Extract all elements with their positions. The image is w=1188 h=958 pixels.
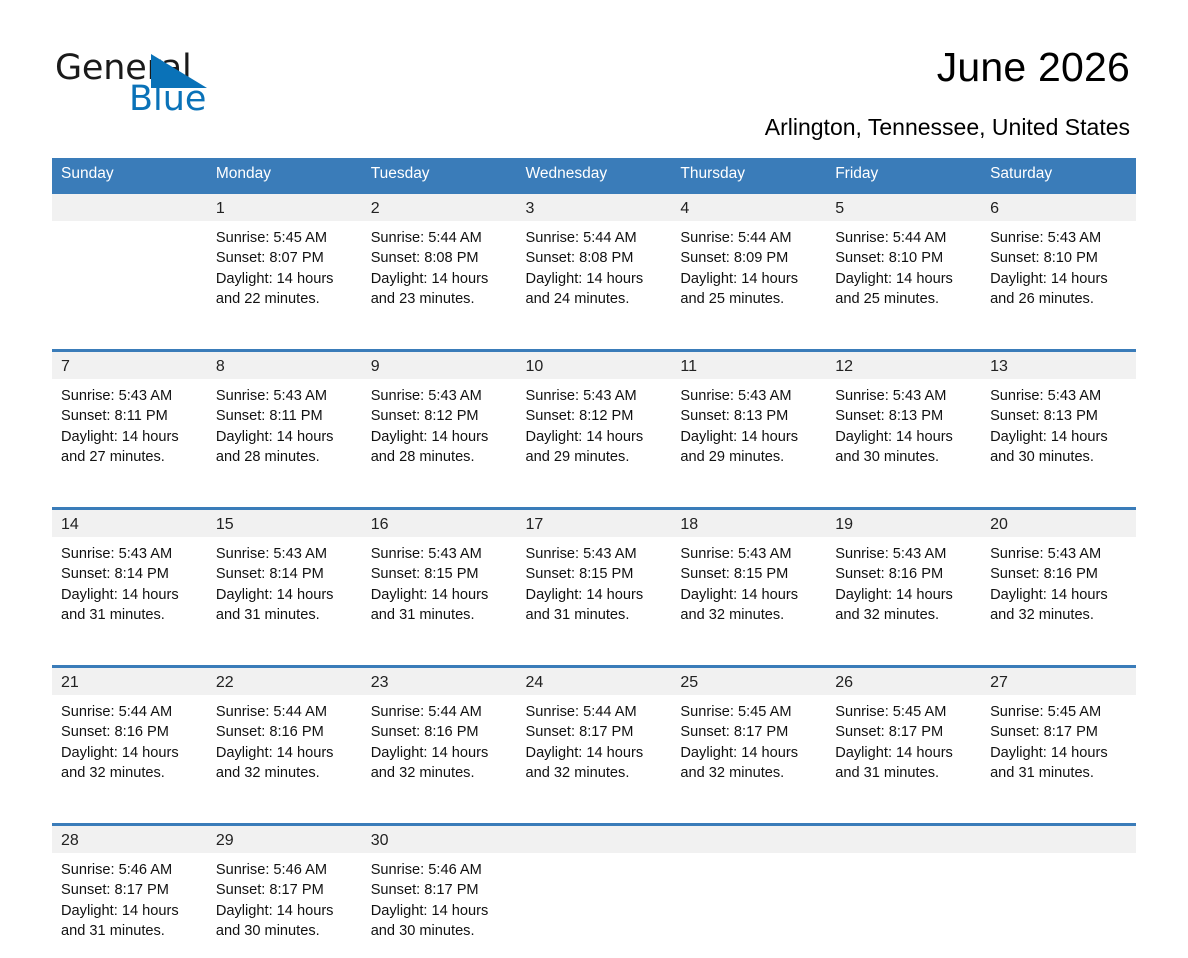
day-number: 14 xyxy=(52,510,207,537)
sunset-text: Sunset: 8:16 PM xyxy=(835,564,971,584)
calendar-day-cell[interactable]: 17Sunrise: 5:43 AMSunset: 8:15 PMDayligh… xyxy=(517,509,672,643)
day-details: Sunrise: 5:43 AMSunset: 8:13 PMDaylight:… xyxy=(981,379,1136,467)
sunset-text: Sunset: 8:09 PM xyxy=(680,248,816,268)
calendar-day-cell[interactable]: 2Sunrise: 5:44 AMSunset: 8:08 PMDaylight… xyxy=(362,193,517,327)
weekday-header-sunday: Sunday xyxy=(52,158,207,193)
calendar-day-cell[interactable]: 10Sunrise: 5:43 AMSunset: 8:12 PMDayligh… xyxy=(517,351,672,485)
sunrise-text: Sunrise: 5:44 AM xyxy=(216,702,352,722)
sunrise-text: Sunrise: 5:43 AM xyxy=(990,544,1126,564)
day-details: Sunrise: 5:46 AMSunset: 8:17 PMDaylight:… xyxy=(207,853,362,941)
day-number: 7 xyxy=(52,352,207,379)
week-gap-row xyxy=(52,484,1136,509)
day-details: Sunrise: 5:45 AMSunset: 8:17 PMDaylight:… xyxy=(981,695,1136,783)
day-details: Sunrise: 5:44 AMSunset: 8:08 PMDaylight:… xyxy=(362,221,517,309)
calendar-week-row: 7Sunrise: 5:43 AMSunset: 8:11 PMDaylight… xyxy=(52,351,1136,485)
day-cell-inner: 24Sunrise: 5:44 AMSunset: 8:17 PMDayligh… xyxy=(517,668,672,800)
sunrise-text: Sunrise: 5:43 AM xyxy=(680,386,816,406)
day-cell-inner: 20Sunrise: 5:43 AMSunset: 8:16 PMDayligh… xyxy=(981,510,1136,642)
daylight-text-line1: Daylight: 14 hours xyxy=(835,269,971,289)
calendar-body: 1Sunrise: 5:45 AMSunset: 8:07 PMDaylight… xyxy=(52,193,1136,958)
day-details: Sunrise: 5:46 AMSunset: 8:17 PMDaylight:… xyxy=(362,853,517,941)
day-number: 9 xyxy=(362,352,517,379)
daylight-text-line2: and 22 minutes. xyxy=(216,289,352,309)
daylight-text-line2: and 30 minutes. xyxy=(990,447,1126,467)
day-cell-inner: 15Sunrise: 5:43 AMSunset: 8:14 PMDayligh… xyxy=(207,510,362,642)
day-number: 10 xyxy=(517,352,672,379)
day-number: 1 xyxy=(207,194,362,221)
daylight-text-line1: Daylight: 14 hours xyxy=(526,585,662,605)
day-cell-inner: 17Sunrise: 5:43 AMSunset: 8:15 PMDayligh… xyxy=(517,510,672,642)
daylight-text-line1: Daylight: 14 hours xyxy=(990,427,1126,447)
day-number: 18 xyxy=(671,510,826,537)
day-cell-inner: 25Sunrise: 5:45 AMSunset: 8:17 PMDayligh… xyxy=(671,668,826,800)
daylight-text-line2: and 29 minutes. xyxy=(680,447,816,467)
day-number: 3 xyxy=(517,194,672,221)
sunset-text: Sunset: 8:13 PM xyxy=(990,406,1126,426)
sunset-text: Sunset: 8:15 PM xyxy=(371,564,507,584)
daylight-text-line2: and 31 minutes. xyxy=(61,605,197,625)
weekday-header-wednesday: Wednesday xyxy=(517,158,672,193)
calendar-day-cell[interactable]: 6Sunrise: 5:43 AMSunset: 8:10 PMDaylight… xyxy=(981,193,1136,327)
day-number: 21 xyxy=(52,668,207,695)
sunset-text: Sunset: 8:15 PM xyxy=(680,564,816,584)
sunset-text: Sunset: 8:11 PM xyxy=(216,406,352,426)
day-number: 25 xyxy=(671,668,826,695)
calendar-day-cell[interactable]: 11Sunrise: 5:43 AMSunset: 8:13 PMDayligh… xyxy=(671,351,826,485)
calendar-day-cell[interactable]: 29Sunrise: 5:46 AMSunset: 8:17 PMDayligh… xyxy=(207,825,362,958)
calendar-day-cell[interactable]: 5Sunrise: 5:44 AMSunset: 8:10 PMDaylight… xyxy=(826,193,981,327)
day-number xyxy=(52,194,207,221)
calendar-week-row: 28Sunrise: 5:46 AMSunset: 8:17 PMDayligh… xyxy=(52,825,1136,958)
calendar-day-cell[interactable]: 18Sunrise: 5:43 AMSunset: 8:15 PMDayligh… xyxy=(671,509,826,643)
day-cell-inner: 6Sunrise: 5:43 AMSunset: 8:10 PMDaylight… xyxy=(981,194,1136,326)
day-cell-inner: 7Sunrise: 5:43 AMSunset: 8:11 PMDaylight… xyxy=(52,352,207,484)
calendar-header-row: Sunday Monday Tuesday Wednesday Thursday… xyxy=(52,158,1136,193)
day-number: 28 xyxy=(52,826,207,853)
week-gap-cell xyxy=(52,326,1136,351)
day-details: Sunrise: 5:46 AMSunset: 8:17 PMDaylight:… xyxy=(52,853,207,941)
sunrise-text: Sunrise: 5:43 AM xyxy=(990,386,1126,406)
logo-word-blue: Blue xyxy=(129,79,206,119)
daylight-text-line1: Daylight: 14 hours xyxy=(680,585,816,605)
daylight-text-line1: Daylight: 14 hours xyxy=(835,427,971,447)
calendar-day-cell[interactable]: 16Sunrise: 5:43 AMSunset: 8:15 PMDayligh… xyxy=(362,509,517,643)
daylight-text-line2: and 25 minutes. xyxy=(835,289,971,309)
calendar-day-cell[interactable]: 3Sunrise: 5:44 AMSunset: 8:08 PMDaylight… xyxy=(517,193,672,327)
daylight-text-line2: and 32 minutes. xyxy=(371,763,507,783)
weekday-header-saturday: Saturday xyxy=(981,158,1136,193)
daylight-text-line1: Daylight: 14 hours xyxy=(216,269,352,289)
weekday-header-thursday: Thursday xyxy=(671,158,826,193)
sunset-text: Sunset: 8:13 PM xyxy=(835,406,971,426)
calendar-day-cell-empty xyxy=(517,825,672,958)
sunrise-text: Sunrise: 5:45 AM xyxy=(216,228,352,248)
daylight-text-line2: and 26 minutes. xyxy=(990,289,1126,309)
daylight-text-line2: and 30 minutes. xyxy=(216,921,352,941)
day-number xyxy=(981,826,1136,853)
calendar-day-cell[interactable]: 13Sunrise: 5:43 AMSunset: 8:13 PMDayligh… xyxy=(981,351,1136,485)
daylight-text-line2: and 28 minutes. xyxy=(216,447,352,467)
day-details: Sunrise: 5:43 AMSunset: 8:16 PMDaylight:… xyxy=(826,537,981,625)
day-cell-inner: 5Sunrise: 5:44 AMSunset: 8:10 PMDaylight… xyxy=(826,194,981,326)
day-cell-inner: 18Sunrise: 5:43 AMSunset: 8:15 PMDayligh… xyxy=(671,510,826,642)
week-gap-row xyxy=(52,642,1136,667)
daylight-text-line1: Daylight: 14 hours xyxy=(680,427,816,447)
daylight-text-line1: Daylight: 14 hours xyxy=(835,585,971,605)
day-details: Sunrise: 5:43 AMSunset: 8:12 PMDaylight:… xyxy=(362,379,517,467)
day-number: 5 xyxy=(826,194,981,221)
sunrise-text: Sunrise: 5:43 AM xyxy=(216,544,352,564)
calendar-week-row: 1Sunrise: 5:45 AMSunset: 8:07 PMDaylight… xyxy=(52,193,1136,327)
sunset-text: Sunset: 8:10 PM xyxy=(990,248,1126,268)
calendar-day-cell[interactable]: 19Sunrise: 5:43 AMSunset: 8:16 PMDayligh… xyxy=(826,509,981,643)
day-cell-inner: 27Sunrise: 5:45 AMSunset: 8:17 PMDayligh… xyxy=(981,668,1136,800)
daylight-text-line2: and 30 minutes. xyxy=(371,921,507,941)
sunrise-text: Sunrise: 5:46 AM xyxy=(216,860,352,880)
calendar-day-cell[interactable]: 22Sunrise: 5:44 AMSunset: 8:16 PMDayligh… xyxy=(207,667,362,801)
day-details: Sunrise: 5:44 AMSunset: 8:16 PMDaylight:… xyxy=(362,695,517,783)
calendar-day-cell[interactable]: 20Sunrise: 5:43 AMSunset: 8:16 PMDayligh… xyxy=(981,509,1136,643)
daylight-text-line1: Daylight: 14 hours xyxy=(526,427,662,447)
day-cell-inner: 11Sunrise: 5:43 AMSunset: 8:13 PMDayligh… xyxy=(671,352,826,484)
day-number: 17 xyxy=(517,510,672,537)
calendar-day-cell[interactable]: 1Sunrise: 5:45 AMSunset: 8:07 PMDaylight… xyxy=(207,193,362,327)
day-details: Sunrise: 5:43 AMSunset: 8:15 PMDaylight:… xyxy=(671,537,826,625)
sunset-text: Sunset: 8:17 PM xyxy=(526,722,662,742)
day-cell-inner: 22Sunrise: 5:44 AMSunset: 8:16 PMDayligh… xyxy=(207,668,362,800)
day-number: 13 xyxy=(981,352,1136,379)
daylight-text-line1: Daylight: 14 hours xyxy=(216,427,352,447)
day-details: Sunrise: 5:43 AMSunset: 8:12 PMDaylight:… xyxy=(517,379,672,467)
day-number: 26 xyxy=(826,668,981,695)
sunset-text: Sunset: 8:13 PM xyxy=(680,406,816,426)
day-details: Sunrise: 5:45 AMSunset: 8:17 PMDaylight:… xyxy=(671,695,826,783)
calendar-page: General Blue June 2026 Arlington, Tennes… xyxy=(0,0,1188,918)
sunset-text: Sunset: 8:17 PM xyxy=(371,880,507,900)
day-cell-inner: 16Sunrise: 5:43 AMSunset: 8:15 PMDayligh… xyxy=(362,510,517,642)
page-subtitle: Arlington, Tennessee, United States xyxy=(765,114,1130,141)
sunrise-text: Sunrise: 5:43 AM xyxy=(526,386,662,406)
day-cell-inner xyxy=(826,826,981,958)
sunset-text: Sunset: 8:08 PM xyxy=(526,248,662,268)
week-gap-cell xyxy=(52,484,1136,509)
day-cell-inner: 29Sunrise: 5:46 AMSunset: 8:17 PMDayligh… xyxy=(207,826,362,958)
sunset-text: Sunset: 8:15 PM xyxy=(526,564,662,584)
daylight-text-line2: and 27 minutes. xyxy=(61,447,197,467)
calendar-day-cell[interactable]: 14Sunrise: 5:43 AMSunset: 8:14 PMDayligh… xyxy=(52,509,207,643)
daylight-text-line1: Daylight: 14 hours xyxy=(61,743,197,763)
daylight-text-line2: and 31 minutes. xyxy=(990,763,1126,783)
weekday-header-friday: Friday xyxy=(826,158,981,193)
day-number: 20 xyxy=(981,510,1136,537)
sunrise-text: Sunrise: 5:43 AM xyxy=(990,228,1126,248)
day-cell-inner: 8Sunrise: 5:43 AMSunset: 8:11 PMDaylight… xyxy=(207,352,362,484)
sunset-text: Sunset: 8:14 PM xyxy=(216,564,352,584)
daylight-text-line1: Daylight: 14 hours xyxy=(216,585,352,605)
day-number xyxy=(826,826,981,853)
sunset-text: Sunset: 8:16 PM xyxy=(371,722,507,742)
sunset-text: Sunset: 8:17 PM xyxy=(990,722,1126,742)
sunrise-text: Sunrise: 5:43 AM xyxy=(680,544,816,564)
daylight-text-line1: Daylight: 14 hours xyxy=(990,585,1126,605)
daylight-text-line2: and 31 minutes. xyxy=(835,763,971,783)
sunrise-text: Sunrise: 5:44 AM xyxy=(371,228,507,248)
sunset-text: Sunset: 8:14 PM xyxy=(61,564,197,584)
day-cell-inner: 12Sunrise: 5:43 AMSunset: 8:13 PMDayligh… xyxy=(826,352,981,484)
sunset-text: Sunset: 8:16 PM xyxy=(990,564,1126,584)
sunset-text: Sunset: 8:17 PM xyxy=(216,880,352,900)
day-details: Sunrise: 5:44 AMSunset: 8:16 PMDaylight:… xyxy=(52,695,207,783)
daylight-text-line1: Daylight: 14 hours xyxy=(61,585,197,605)
sunrise-text: Sunrise: 5:46 AM xyxy=(371,860,507,880)
day-cell-inner: 14Sunrise: 5:43 AMSunset: 8:14 PMDayligh… xyxy=(52,510,207,642)
calendar-day-cell-empty xyxy=(671,825,826,958)
calendar-day-cell[interactable]: 15Sunrise: 5:43 AMSunset: 8:14 PMDayligh… xyxy=(207,509,362,643)
day-cell-inner: 4Sunrise: 5:44 AMSunset: 8:09 PMDaylight… xyxy=(671,194,826,326)
daylight-text-line2: and 31 minutes. xyxy=(526,605,662,625)
calendar-day-cell[interactable]: 8Sunrise: 5:43 AMSunset: 8:11 PMDaylight… xyxy=(207,351,362,485)
day-cell-inner: 2Sunrise: 5:44 AMSunset: 8:08 PMDaylight… xyxy=(362,194,517,326)
sunrise-text: Sunrise: 5:44 AM xyxy=(526,702,662,722)
day-cell-inner xyxy=(52,194,207,326)
sunrise-text: Sunrise: 5:43 AM xyxy=(835,386,971,406)
sunset-text: Sunset: 8:17 PM xyxy=(680,722,816,742)
sunset-text: Sunset: 8:17 PM xyxy=(61,880,197,900)
calendar-day-cell[interactable]: 26Sunrise: 5:45 AMSunset: 8:17 PMDayligh… xyxy=(826,667,981,801)
sunset-text: Sunset: 8:17 PM xyxy=(835,722,971,742)
calendar-day-cell[interactable]: 24Sunrise: 5:44 AMSunset: 8:17 PMDayligh… xyxy=(517,667,672,801)
daylight-text-line1: Daylight: 14 hours xyxy=(680,269,816,289)
daylight-text-line2: and 29 minutes. xyxy=(526,447,662,467)
sunset-text: Sunset: 8:07 PM xyxy=(216,248,352,268)
daylight-text-line1: Daylight: 14 hours xyxy=(526,269,662,289)
day-number: 11 xyxy=(671,352,826,379)
daylight-text-line2: and 28 minutes. xyxy=(371,447,507,467)
day-number: 4 xyxy=(671,194,826,221)
day-details: Sunrise: 5:43 AMSunset: 8:13 PMDaylight:… xyxy=(671,379,826,467)
day-details: Sunrise: 5:43 AMSunset: 8:15 PMDaylight:… xyxy=(517,537,672,625)
calendar-day-cell[interactable]: 23Sunrise: 5:44 AMSunset: 8:16 PMDayligh… xyxy=(362,667,517,801)
day-details: Sunrise: 5:43 AMSunset: 8:11 PMDaylight:… xyxy=(52,379,207,467)
sunset-text: Sunset: 8:12 PM xyxy=(526,406,662,426)
day-number xyxy=(517,826,672,853)
sunrise-text: Sunrise: 5:43 AM xyxy=(371,544,507,564)
day-cell-inner: 10Sunrise: 5:43 AMSunset: 8:12 PMDayligh… xyxy=(517,352,672,484)
general-blue-logo[interactable]: General Blue xyxy=(55,48,255,120)
sunrise-text: Sunrise: 5:43 AM xyxy=(526,544,662,564)
daylight-text-line1: Daylight: 14 hours xyxy=(371,585,507,605)
calendar-day-cell[interactable]: 27Sunrise: 5:45 AMSunset: 8:17 PMDayligh… xyxy=(981,667,1136,801)
sunset-text: Sunset: 8:10 PM xyxy=(835,248,971,268)
calendar-day-cell[interactable]: 30Sunrise: 5:46 AMSunset: 8:17 PMDayligh… xyxy=(362,825,517,958)
day-number: 19 xyxy=(826,510,981,537)
sunrise-text: Sunrise: 5:45 AM xyxy=(680,702,816,722)
day-details: Sunrise: 5:43 AMSunset: 8:16 PMDaylight:… xyxy=(981,537,1136,625)
sunrise-text: Sunrise: 5:43 AM xyxy=(371,386,507,406)
daylight-text-line1: Daylight: 14 hours xyxy=(371,427,507,447)
daylight-text-line2: and 31 minutes. xyxy=(371,605,507,625)
day-details: Sunrise: 5:43 AMSunset: 8:14 PMDaylight:… xyxy=(207,537,362,625)
sunset-text: Sunset: 8:16 PM xyxy=(216,722,352,742)
calendar-day-cell[interactable]: 7Sunrise: 5:43 AMSunset: 8:11 PMDaylight… xyxy=(52,351,207,485)
sunset-text: Sunset: 8:12 PM xyxy=(371,406,507,426)
day-details: Sunrise: 5:43 AMSunset: 8:15 PMDaylight:… xyxy=(362,537,517,625)
day-details: Sunrise: 5:43 AMSunset: 8:11 PMDaylight:… xyxy=(207,379,362,467)
calendar-day-cell[interactable]: 9Sunrise: 5:43 AMSunset: 8:12 PMDaylight… xyxy=(362,351,517,485)
day-number: 27 xyxy=(981,668,1136,695)
day-number: 8 xyxy=(207,352,362,379)
sunrise-text: Sunrise: 5:44 AM xyxy=(835,228,971,248)
sunset-text: Sunset: 8:08 PM xyxy=(371,248,507,268)
calendar-day-cell[interactable]: 21Sunrise: 5:44 AMSunset: 8:16 PMDayligh… xyxy=(52,667,207,801)
daylight-text-line2: and 32 minutes. xyxy=(680,763,816,783)
calendar-week-row: 21Sunrise: 5:44 AMSunset: 8:16 PMDayligh… xyxy=(52,667,1136,801)
page-title: June 2026 xyxy=(937,44,1130,91)
day-cell-inner: 1Sunrise: 5:45 AMSunset: 8:07 PMDaylight… xyxy=(207,194,362,326)
day-cell-inner: 21Sunrise: 5:44 AMSunset: 8:16 PMDayligh… xyxy=(52,668,207,800)
day-details: Sunrise: 5:44 AMSunset: 8:08 PMDaylight:… xyxy=(517,221,672,309)
day-details: Sunrise: 5:43 AMSunset: 8:10 PMDaylight:… xyxy=(981,221,1136,309)
daylight-text-line2: and 30 minutes. xyxy=(835,447,971,467)
day-number: 6 xyxy=(981,194,1136,221)
daylight-text-line1: Daylight: 14 hours xyxy=(371,743,507,763)
day-details: Sunrise: 5:44 AMSunset: 8:10 PMDaylight:… xyxy=(826,221,981,309)
sunset-text: Sunset: 8:16 PM xyxy=(61,722,197,742)
day-cell-inner: 19Sunrise: 5:43 AMSunset: 8:16 PMDayligh… xyxy=(826,510,981,642)
day-details: Sunrise: 5:45 AMSunset: 8:17 PMDaylight:… xyxy=(826,695,981,783)
sunset-text: Sunset: 8:11 PM xyxy=(61,406,197,426)
day-number xyxy=(671,826,826,853)
daylight-text-line2: and 32 minutes. xyxy=(680,605,816,625)
daylight-text-line1: Daylight: 14 hours xyxy=(216,743,352,763)
day-cell-inner: 28Sunrise: 5:46 AMSunset: 8:17 PMDayligh… xyxy=(52,826,207,958)
day-details: Sunrise: 5:43 AMSunset: 8:13 PMDaylight:… xyxy=(826,379,981,467)
calendar-week-row: 14Sunrise: 5:43 AMSunset: 8:14 PMDayligh… xyxy=(52,509,1136,643)
daylight-text-line2: and 25 minutes. xyxy=(680,289,816,309)
sunrise-text: Sunrise: 5:44 AM xyxy=(61,702,197,722)
day-number: 15 xyxy=(207,510,362,537)
sunrise-text: Sunrise: 5:43 AM xyxy=(61,544,197,564)
daylight-text-line2: and 31 minutes. xyxy=(61,921,197,941)
sunrise-text: Sunrise: 5:43 AM xyxy=(835,544,971,564)
calendar-day-cell[interactable]: 12Sunrise: 5:43 AMSunset: 8:13 PMDayligh… xyxy=(826,351,981,485)
daylight-text-line2: and 32 minutes. xyxy=(61,763,197,783)
day-cell-inner: 3Sunrise: 5:44 AMSunset: 8:08 PMDaylight… xyxy=(517,194,672,326)
daylight-text-line1: Daylight: 14 hours xyxy=(680,743,816,763)
calendar-day-cell-empty xyxy=(981,825,1136,958)
week-gap-row xyxy=(52,800,1136,825)
day-cell-inner: 23Sunrise: 5:44 AMSunset: 8:16 PMDayligh… xyxy=(362,668,517,800)
day-number: 12 xyxy=(826,352,981,379)
sunrise-text: Sunrise: 5:45 AM xyxy=(835,702,971,722)
weekday-header-monday: Monday xyxy=(207,158,362,193)
sunrise-text: Sunrise: 5:44 AM xyxy=(371,702,507,722)
day-cell-inner: 13Sunrise: 5:43 AMSunset: 8:13 PMDayligh… xyxy=(981,352,1136,484)
daylight-text-line1: Daylight: 14 hours xyxy=(835,743,971,763)
day-details: Sunrise: 5:44 AMSunset: 8:17 PMDaylight:… xyxy=(517,695,672,783)
calendar-day-cell-empty xyxy=(826,825,981,958)
day-number: 16 xyxy=(362,510,517,537)
page-header: General Blue June 2026 Arlington, Tennes… xyxy=(0,0,1188,108)
week-gap-row xyxy=(52,326,1136,351)
daylight-text-line1: Daylight: 14 hours xyxy=(371,269,507,289)
calendar-day-cell[interactable]: 28Sunrise: 5:46 AMSunset: 8:17 PMDayligh… xyxy=(52,825,207,958)
day-cell-inner xyxy=(671,826,826,958)
day-number: 30 xyxy=(362,826,517,853)
sunrise-sunset-calendar: Sunday Monday Tuesday Wednesday Thursday… xyxy=(52,158,1136,958)
daylight-text-line1: Daylight: 14 hours xyxy=(526,743,662,763)
day-details: Sunrise: 5:44 AMSunset: 8:16 PMDaylight:… xyxy=(207,695,362,783)
daylight-text-line2: and 23 minutes. xyxy=(371,289,507,309)
day-number: 23 xyxy=(362,668,517,695)
sunrise-text: Sunrise: 5:45 AM xyxy=(990,702,1126,722)
day-cell-inner: 30Sunrise: 5:46 AMSunset: 8:17 PMDayligh… xyxy=(362,826,517,958)
daylight-text-line1: Daylight: 14 hours xyxy=(990,269,1126,289)
day-details: Sunrise: 5:44 AMSunset: 8:09 PMDaylight:… xyxy=(671,221,826,309)
calendar-day-cell[interactable]: 25Sunrise: 5:45 AMSunset: 8:17 PMDayligh… xyxy=(671,667,826,801)
day-details: Sunrise: 5:43 AMSunset: 8:14 PMDaylight:… xyxy=(52,537,207,625)
sunrise-text: Sunrise: 5:44 AM xyxy=(526,228,662,248)
daylight-text-line2: and 24 minutes. xyxy=(526,289,662,309)
calendar-day-cell[interactable]: 4Sunrise: 5:44 AMSunset: 8:09 PMDaylight… xyxy=(671,193,826,327)
weekday-header-tuesday: Tuesday xyxy=(362,158,517,193)
day-cell-inner xyxy=(517,826,672,958)
day-number: 24 xyxy=(517,668,672,695)
daylight-text-line2: and 32 minutes. xyxy=(990,605,1126,625)
daylight-text-line2: and 32 minutes. xyxy=(835,605,971,625)
sunrise-text: Sunrise: 5:43 AM xyxy=(61,386,197,406)
day-number: 2 xyxy=(362,194,517,221)
calendar-day-cell-empty xyxy=(52,193,207,327)
daylight-text-line1: Daylight: 14 hours xyxy=(990,743,1126,763)
sunrise-text: Sunrise: 5:46 AM xyxy=(61,860,197,880)
daylight-text-line2: and 32 minutes. xyxy=(216,763,352,783)
daylight-text-line2: and 32 minutes. xyxy=(526,763,662,783)
sunrise-text: Sunrise: 5:43 AM xyxy=(216,386,352,406)
week-gap-cell xyxy=(52,642,1136,667)
day-details: Sunrise: 5:45 AMSunset: 8:07 PMDaylight:… xyxy=(207,221,362,309)
week-gap-cell xyxy=(52,800,1136,825)
day-number: 29 xyxy=(207,826,362,853)
daylight-text-line2: and 31 minutes. xyxy=(216,605,352,625)
day-cell-inner: 26Sunrise: 5:45 AMSunset: 8:17 PMDayligh… xyxy=(826,668,981,800)
day-number: 22 xyxy=(207,668,362,695)
sunrise-text: Sunrise: 5:44 AM xyxy=(680,228,816,248)
day-cell-inner: 9Sunrise: 5:43 AMSunset: 8:12 PMDaylight… xyxy=(362,352,517,484)
daylight-text-line1: Daylight: 14 hours xyxy=(61,427,197,447)
day-cell-inner xyxy=(981,826,1136,958)
